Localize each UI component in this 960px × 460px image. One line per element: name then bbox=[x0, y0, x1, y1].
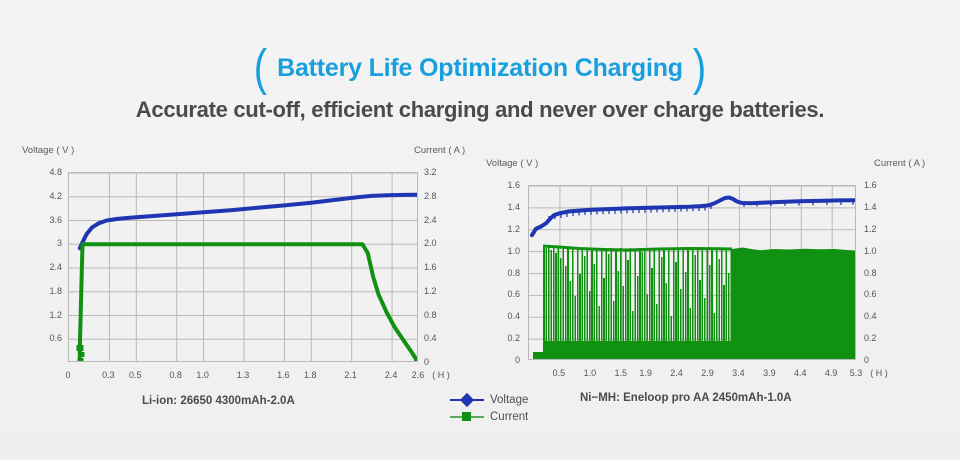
right-chart-ytick-0: 1.6 bbox=[490, 180, 520, 190]
left-chart-ytick-6: 1.2 bbox=[28, 310, 62, 320]
left-chart-xtick-0: 0 bbox=[48, 370, 88, 380]
chart-ni-mh: Voltage ( V ) Current ( A ) bbox=[470, 155, 950, 440]
left-chart-plot-area bbox=[68, 172, 418, 362]
left-chart-ytick-2: 3.6 bbox=[28, 215, 62, 225]
left-chart-y2tick-6: 0.8 bbox=[424, 310, 454, 320]
left-chart-y2-axis-title: Current ( A ) bbox=[414, 145, 465, 156]
right-chart-x-unit: ( H ) bbox=[862, 368, 896, 378]
right-chart-current-fill-late bbox=[732, 248, 855, 361]
left-chart-gridlines bbox=[69, 173, 418, 362]
left-chart-y2tick-2: 2.4 bbox=[424, 215, 454, 225]
right-chart-y2tick-1: 1.4 bbox=[864, 202, 894, 212]
page-title: ( Battery Life Optimization Charging ) bbox=[0, 48, 960, 88]
left-chart-xtick-7: 1.8 bbox=[290, 370, 330, 380]
right-chart-y2tick-6: 0.4 bbox=[864, 311, 894, 321]
left-chart-ytick-5: 1.8 bbox=[28, 286, 62, 296]
left-chart-current-line bbox=[80, 244, 418, 362]
page-subtitle: Accurate cut-off, efficient charging and… bbox=[0, 94, 960, 126]
title-text: Battery Life Optimization Charging bbox=[277, 54, 683, 83]
right-chart-y2tick-2: 1.2 bbox=[864, 224, 894, 234]
right-chart-ytick-4: 0.8 bbox=[490, 268, 520, 278]
left-chart-xtick-5: 1.3 bbox=[223, 370, 263, 380]
right-chart-current-envelope bbox=[543, 246, 732, 250]
left-chart-y2tick-7: 0.4 bbox=[424, 333, 454, 343]
left-chart-y-axis-title: Voltage ( V ) bbox=[22, 145, 74, 156]
left-chart-ytick-7: 0.6 bbox=[28, 333, 62, 343]
left-chart-svg bbox=[69, 173, 418, 362]
bracket-right-icon: ) bbox=[693, 46, 706, 91]
left-chart-y2tick-4: 1.6 bbox=[424, 262, 454, 272]
right-chart-y2tick-0: 1.6 bbox=[864, 180, 894, 190]
right-chart-ytick-1: 1.4 bbox=[490, 202, 520, 212]
right-chart-y2tick-8: 0 bbox=[864, 355, 894, 365]
left-chart-y2tick-3: 2.0 bbox=[424, 238, 454, 248]
left-chart-caption: Li-ion: 26650 4300mAh-2.0A bbox=[142, 395, 295, 407]
left-chart-y2tick-1: 2.8 bbox=[424, 191, 454, 201]
right-chart-svg bbox=[529, 186, 856, 360]
left-chart-xtick-2: 0.5 bbox=[115, 370, 155, 380]
right-chart-plot-area bbox=[528, 185, 856, 360]
right-chart-y2tick-4: 0.8 bbox=[864, 268, 894, 278]
right-chart-ytick-7: 0.2 bbox=[490, 333, 520, 343]
left-chart-xtick-4: 1.0 bbox=[183, 370, 223, 380]
left-chart-y2tick-8: 0 bbox=[424, 357, 454, 367]
right-chart-y2-axis-title: Current ( A ) bbox=[874, 158, 925, 169]
right-chart-ytick-2: 1.2 bbox=[490, 224, 520, 234]
right-chart-y2tick-7: 0.2 bbox=[864, 333, 894, 343]
left-chart-y2tick-5: 1.2 bbox=[424, 286, 454, 296]
left-chart-x-unit: ( H ) bbox=[424, 370, 458, 380]
chart-li-ion: Voltage ( V ) Current ( A ) bbox=[0, 140, 460, 440]
right-chart-y2tick-5: 0.6 bbox=[864, 289, 894, 299]
right-chart-caption: Ni−MH: Eneloop pro AA 2450mAh-1.0A bbox=[580, 392, 792, 404]
right-chart-ytick-8: 0 bbox=[490, 355, 520, 365]
right-chart-current-pulse-bars bbox=[544, 246, 731, 360]
left-chart-current-end-marker bbox=[414, 357, 418, 362]
left-chart-xtick-8: 2.1 bbox=[331, 370, 371, 380]
left-chart-ytick-4: 2.4 bbox=[28, 262, 62, 272]
left-chart-ytick-3: 3 bbox=[28, 238, 62, 248]
left-chart-ytick-0: 4.8 bbox=[28, 167, 62, 177]
right-chart-y-axis-title: Voltage ( V ) bbox=[486, 158, 538, 169]
left-chart-ytick-1: 4.2 bbox=[28, 191, 62, 201]
left-chart-y2tick-0: 3.2 bbox=[424, 167, 454, 177]
bracket-left-icon: ( bbox=[254, 46, 267, 91]
left-chart-current-origin-markers bbox=[77, 345, 85, 362]
left-chart-voltage-line bbox=[80, 195, 418, 249]
right-chart-ytick-3: 1.0 bbox=[490, 246, 520, 256]
right-chart-ytick-5: 0.6 bbox=[490, 289, 520, 299]
right-chart-ytick-6: 0.4 bbox=[490, 311, 520, 321]
right-chart-y2tick-3: 1.0 bbox=[864, 246, 894, 256]
